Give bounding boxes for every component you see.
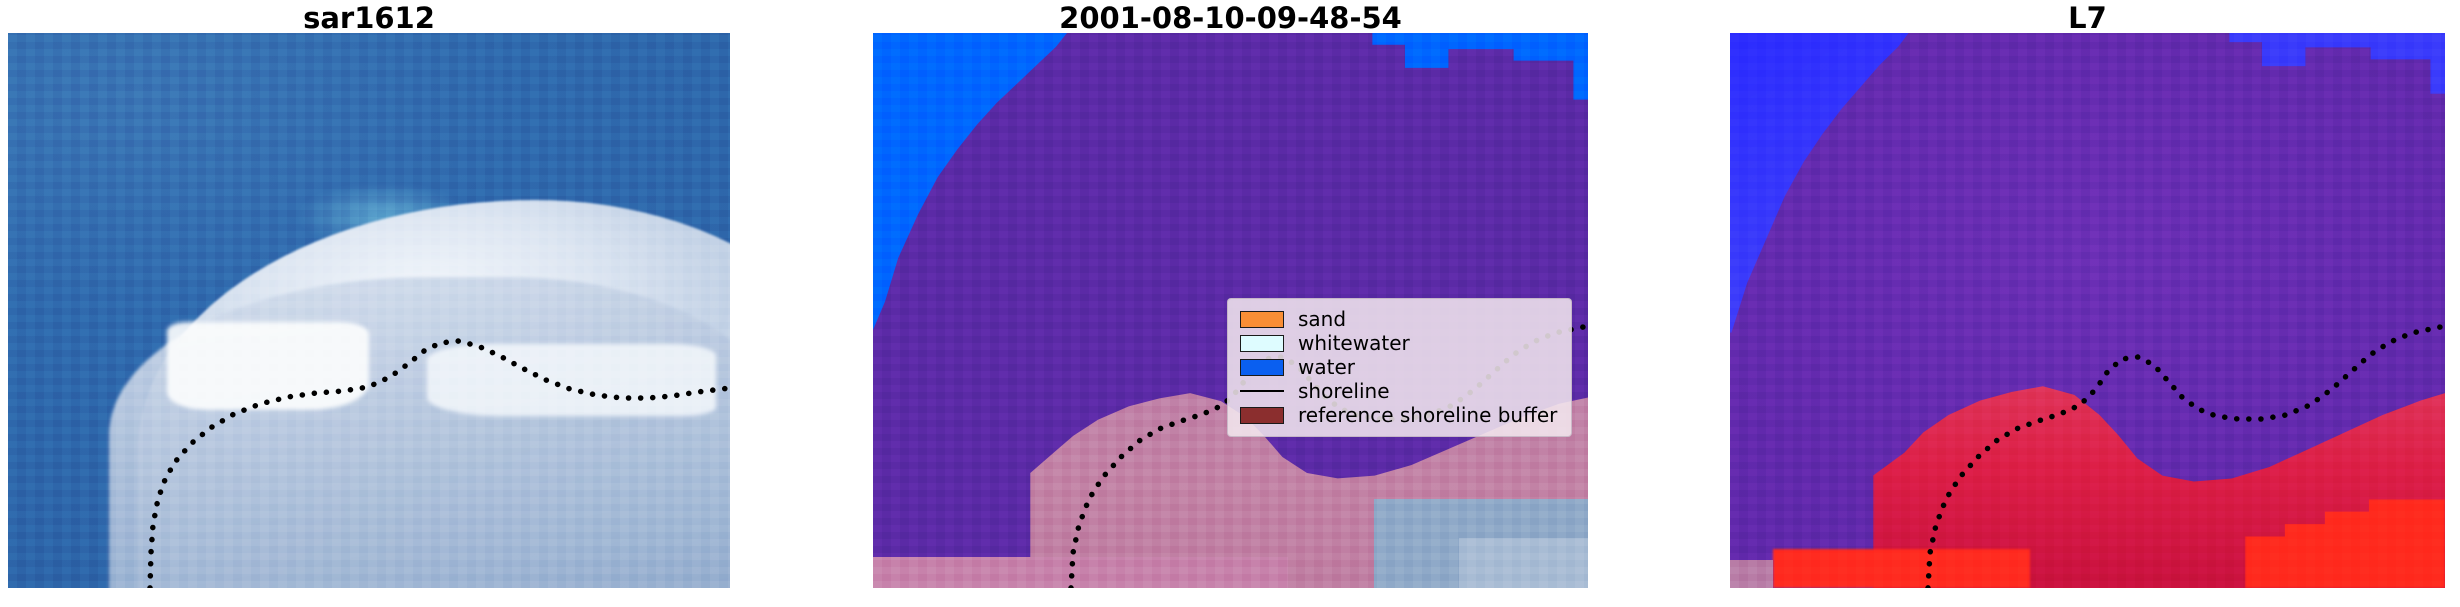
axes-image-3[interactable] (1730, 33, 2445, 588)
legend-label-water: water (1298, 357, 1355, 377)
legend-swatch-whitewater (1240, 335, 1284, 352)
legend-swatch-shoreline (1240, 383, 1284, 400)
legend-item-whitewater: whitewater (1240, 331, 1561, 355)
bottom-strip-3 (1730, 560, 1773, 588)
legend-swatch-reference-buffer (1240, 407, 1284, 424)
legend-item-shoreline: shoreline (1240, 379, 1561, 403)
panel-l7: L7 (1730, 0, 2445, 607)
legend-label-sand: sand (1298, 309, 1346, 329)
panel-2001-08-10-09-48-54: 2001-08-10-09-48-54 sand whitewater (873, 0, 1588, 607)
legend-item-reference-shoreline-buffer: reference shoreline buffer (1240, 403, 1561, 427)
legend-label-shoreline: shoreline (1298, 381, 1390, 401)
panel-title-2: 2001-08-10-09-48-54 (873, 2, 1588, 34)
figure-canvas: sar1612 2001-08-10-09-48-54 (0, 0, 2460, 607)
legend-item-sand: sand (1240, 307, 1561, 331)
land-region-2-corner (1459, 538, 1588, 588)
bright-sand-patch-2 (427, 344, 716, 416)
panel-sar1612: sar1612 (8, 0, 730, 607)
legend-label-whitewater: whitewater (1298, 333, 1410, 353)
land-region-3-bottom (1773, 549, 2030, 588)
legend-swatch-water (1240, 359, 1284, 376)
bright-sand-patch-1 (167, 322, 369, 411)
legend-label-reference-buffer: reference shoreline buffer (1298, 405, 1557, 425)
axes-image-1[interactable] (8, 33, 730, 588)
bottom-strip-2 (873, 557, 1288, 588)
legend-swatch-sand (1240, 311, 1284, 328)
panel-title-3: L7 (1730, 2, 2445, 34)
legend-box: sand whitewater water shoreline referenc… (1227, 298, 1572, 437)
panel-title-1: sar1612 (8, 2, 730, 34)
legend-item-water: water (1240, 355, 1561, 379)
